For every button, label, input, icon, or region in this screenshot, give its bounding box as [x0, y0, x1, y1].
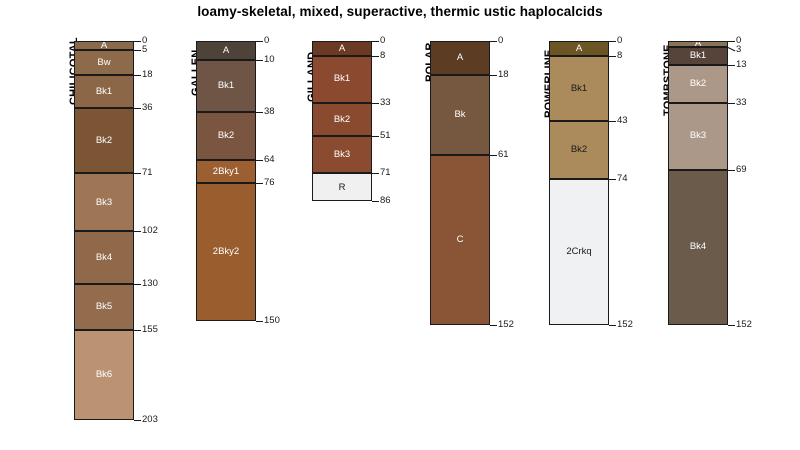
depth-tick-mark: [609, 179, 616, 180]
depth-tick-label: 33: [736, 98, 747, 108]
depth-tick-mark: [490, 155, 497, 156]
horizon-block[interactable]: A: [74, 41, 134, 50]
horizon-block[interactable]: Bk2: [668, 65, 728, 102]
depth-axis: 010386476150: [256, 0, 302, 450]
horizon-column: ABwBk1Bk2Bk3Bk4Bk5Bk6: [74, 0, 134, 450]
horizon-block[interactable]: A: [430, 41, 490, 75]
depth-tick-mark: [256, 183, 263, 184]
horizon-block[interactable]: C: [430, 155, 490, 325]
horizon-label: Bk5: [96, 302, 112, 312]
horizon-block[interactable]: A: [312, 41, 372, 56]
horizon-label: 2Crkq: [566, 247, 591, 257]
depth-tick-mark: [609, 56, 616, 57]
depth-tick-label: 152: [617, 320, 633, 330]
depth-tick-label: 10: [264, 55, 275, 65]
horizon-column: ABk1Bk22Bky12Bky2: [196, 0, 256, 450]
horizon-label: Bk6: [96, 370, 112, 380]
depth-tick-mark: [134, 108, 141, 109]
soil-profile-figure: loamy-skeletal, mixed, superactive, ther…: [0, 0, 800, 450]
depth-tick-label: 150: [264, 316, 280, 326]
depth-tick-mark: [728, 41, 735, 42]
depth-tick-mark: [490, 41, 497, 42]
depth-axis: 03133369152: [728, 0, 774, 450]
depth-tick-mark: [372, 103, 379, 104]
depth-tick-label: 74: [617, 174, 628, 184]
depth-tick-label: 0: [498, 36, 503, 46]
horizon-label: Bk2: [690, 79, 706, 89]
horizon-label: A: [223, 46, 229, 56]
depth-tick-mark: [609, 121, 616, 122]
depth-tick-label: 152: [498, 320, 514, 330]
depth-tick-label: 155: [142, 325, 158, 335]
soil-profile-powerline: POWERLINEABk1Bk22Crkq084374152: [549, 0, 655, 450]
horizon-label: Bk1: [334, 74, 350, 84]
horizon-label: Bk: [454, 110, 465, 120]
depth-tick-mark: [256, 41, 263, 42]
depth-tick-label: 8: [380, 51, 385, 61]
depth-tick-label: 13: [736, 60, 747, 70]
depth-tick-mark: [134, 330, 141, 331]
horizon-block[interactable]: A: [549, 41, 609, 56]
horizon-block[interactable]: Bk2: [196, 112, 256, 161]
horizon-label: Bk4: [96, 253, 112, 263]
depth-tick-label: 76: [264, 178, 275, 188]
depth-tick-label: 18: [142, 70, 153, 80]
depth-axis: 05183671102130155203: [134, 0, 180, 450]
depth-tick-mark: [728, 65, 735, 66]
depth-tick-label: 152: [736, 320, 752, 330]
depth-tick-mark: [372, 41, 379, 42]
depth-tick-mark: [490, 325, 497, 326]
soil-profile-chilicotal: CHILICOTALABwBk1Bk2Bk3Bk4Bk5Bk6051836711…: [74, 0, 180, 450]
depth-tick-label: 69: [736, 165, 747, 175]
horizon-block[interactable]: Bk2: [312, 103, 372, 137]
horizon-block[interactable]: Bk1: [196, 60, 256, 112]
depth-tick-mark: [134, 420, 141, 421]
horizon-label: Bk1: [218, 81, 234, 91]
horizon-label: C: [457, 235, 464, 245]
depth-tick-mark: [134, 75, 141, 76]
depth-tick-label: 36: [142, 103, 153, 113]
depth-tick-label: 64: [264, 155, 275, 165]
horizon-label: A: [339, 44, 345, 54]
depth-tick-mark: [256, 321, 263, 322]
soil-profile-gilland: GILLANDABk1Bk2Bk3R0833517186: [312, 0, 418, 450]
depth-tick-label: 43: [617, 116, 628, 126]
horizon-label: Bk3: [334, 150, 350, 160]
depth-tick-mark: [609, 41, 616, 42]
depth-tick-mark: [256, 112, 263, 113]
horizon-block[interactable]: Bk1: [74, 75, 134, 109]
depth-tick-mark: [728, 325, 735, 326]
horizon-block[interactable]: Bk4: [668, 170, 728, 325]
depth-tick-label: 51: [380, 131, 391, 141]
depth-tick-label: 71: [380, 168, 391, 178]
horizon-block[interactable]: R: [312, 173, 372, 201]
depth-tick-mark: [372, 56, 379, 57]
depth-tick-label: 18: [498, 70, 509, 80]
horizon-block[interactable]: Bk: [430, 75, 490, 155]
depth-tick-label: 130: [142, 279, 158, 289]
depth-tick-label: 0: [617, 36, 622, 46]
horizon-block[interactable]: Bk1: [668, 47, 728, 66]
depth-tick-label: 71: [142, 168, 153, 178]
depth-axis: 084374152: [609, 0, 655, 450]
depth-tick-mark: [490, 75, 497, 76]
depth-tick-mark: [728, 103, 735, 104]
depth-tick-mark: [256, 160, 263, 161]
horizon-block[interactable]: Bk5: [74, 284, 134, 331]
horizon-column: ABk1Bk2Bk3Bk4: [668, 0, 728, 450]
horizon-column: ABk1Bk2Bk3R: [312, 0, 372, 450]
depth-tick-mark: [728, 170, 735, 171]
depth-tick-label: 8: [617, 51, 622, 61]
depth-tick-mark: [134, 41, 141, 42]
horizon-label: Bk1: [690, 51, 706, 61]
depth-tick-mark: [134, 50, 141, 51]
horizon-block[interactable]: 2Bky2: [196, 183, 256, 321]
depth-tick-label: 86: [380, 196, 391, 206]
depth-tick-label: 61: [498, 150, 509, 160]
depth-tick-mark: [609, 325, 616, 326]
horizon-label: R: [339, 183, 346, 193]
horizon-label: 2Bky1: [213, 167, 239, 177]
horizon-block[interactable]: Bw: [74, 50, 134, 74]
horizon-label: A: [576, 44, 582, 54]
horizon-block[interactable]: Bk2: [74, 108, 134, 173]
horizon-label: Bk1: [571, 84, 587, 94]
horizon-label: Bk4: [690, 242, 706, 252]
depth-tick-mark: [134, 284, 141, 285]
depth-tick-mark: [372, 201, 379, 202]
depth-tick-label: 0: [264, 36, 269, 46]
depth-tick-label: 5: [142, 45, 147, 55]
horizon-block[interactable]: 2Crkq: [549, 179, 609, 325]
depth-tick-mark: [372, 136, 379, 137]
depth-tick-label: 3: [736, 45, 741, 55]
depth-axis: 0833517186: [372, 0, 418, 450]
depth-tick-label: 0: [380, 36, 385, 46]
depth-tick-mark: [372, 173, 379, 174]
soil-profile-gallen: GALLENABk1Bk22Bky12Bky2010386476150: [196, 0, 302, 450]
horizon-column: ABkC: [430, 0, 490, 450]
depth-tick-label: 38: [264, 107, 275, 117]
depth-tick-mark: [728, 47, 735, 51]
depth-tick-label: 33: [380, 98, 391, 108]
horizon-block[interactable]: 2Bky1: [196, 160, 256, 182]
horizon-block[interactable]: Bk6: [74, 330, 134, 420]
depth-tick-label: 203: [142, 415, 158, 425]
horizon-block[interactable]: Bk3: [312, 136, 372, 173]
depth-tick-mark: [134, 231, 141, 232]
horizon-block[interactable]: Bk1: [549, 56, 609, 121]
horizon-label: Bk2: [334, 115, 350, 125]
horizon-column: ABk1Bk22Crkq: [549, 0, 609, 450]
soil-profile-tombstone: TOMBSTONEABk1Bk2Bk3Bk403133369152: [668, 0, 774, 450]
horizon-label: Bw: [97, 58, 110, 68]
horizon-block[interactable]: Bk1: [312, 56, 372, 103]
horizon-block[interactable]: A: [196, 41, 256, 60]
horizon-block[interactable]: Bk3: [668, 103, 728, 170]
horizon-label: 2Bky2: [213, 247, 239, 257]
horizon-label: Bk1: [96, 87, 112, 97]
horizon-label: Bk2: [571, 145, 587, 155]
horizon-block[interactable]: Bk4: [74, 231, 134, 283]
horizon-block[interactable]: Bk2: [549, 121, 609, 179]
horizon-label: A: [457, 53, 463, 63]
horizon-label: Bk2: [96, 136, 112, 146]
horizon-label: Bk3: [96, 198, 112, 208]
horizon-label: A: [101, 41, 107, 50]
depth-axis: 01861152: [490, 0, 536, 450]
horizon-label: Bk3: [690, 131, 706, 141]
horizon-block[interactable]: Bk3: [74, 173, 134, 231]
depth-tick-mark: [256, 60, 263, 61]
depth-tick-mark: [134, 173, 141, 174]
horizon-label: Bk2: [218, 131, 234, 141]
soil-profile-polar: POLARABkC01861152: [430, 0, 536, 450]
depth-tick-label: 102: [142, 226, 158, 236]
